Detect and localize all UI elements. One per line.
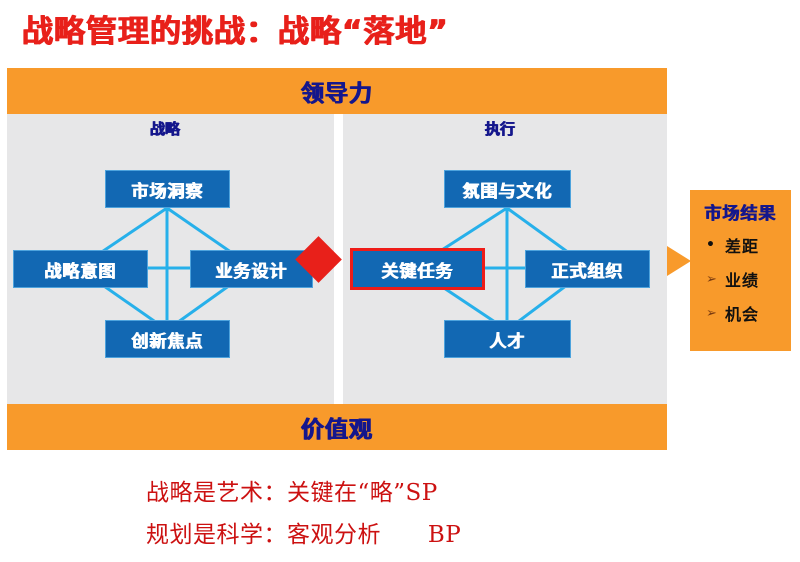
arrow-bullet-icon: ➢ — [706, 272, 725, 287]
node-business-design[interactable]: 业务设计 — [190, 250, 313, 288]
node-formal-organization[interactable]: 正式组织 — [525, 250, 650, 288]
node-talent[interactable]: 人才 — [444, 320, 571, 358]
output-arrow-icon — [667, 240, 692, 282]
node-label: 氛围与文化 — [463, 177, 553, 202]
result-item-label: 差距 — [725, 233, 759, 257]
node-market-insight[interactable]: 市场洞察 — [105, 170, 230, 208]
result-item: • 差距 — [690, 233, 791, 257]
node-key-tasks[interactable]: 关键任务 — [350, 248, 485, 290]
dot-bullet-icon: • — [706, 237, 725, 253]
slide-root: 战略管理的挑战：战略“落地” 领导力 价值观 战略 执行 — [0, 0, 800, 562]
node-label: 正式组织 — [552, 257, 624, 282]
node-label: 创新焦点 — [132, 327, 204, 352]
arrow-bullet-icon: ➢ — [706, 306, 725, 321]
market-result-title: 市场结果 — [690, 199, 791, 224]
node-label: 人才 — [490, 327, 526, 352]
result-item: ➢ 机会 — [690, 301, 791, 325]
node-label: 业务设计 — [216, 257, 288, 282]
node-strategic-intent[interactable]: 战略意图 — [13, 250, 148, 288]
result-item-label: 业绩 — [725, 267, 759, 291]
node-innovation-focus[interactable]: 创新焦点 — [105, 320, 230, 358]
node-climate-culture[interactable]: 氛围与文化 — [444, 170, 571, 208]
result-item: ➢ 业绩 — [690, 267, 791, 291]
node-label: 战略意图 — [45, 257, 117, 282]
page-title: 战略管理的挑战：战略“落地” — [22, 6, 449, 51]
node-label: 关键任务 — [382, 257, 454, 282]
market-result-box: 市场结果 • 差距 ➢ 业绩 ➢ 机会 — [690, 190, 791, 351]
result-item-label: 机会 — [725, 301, 759, 325]
footer-line-sp: 战略是艺术：关键在“略”SP — [146, 473, 438, 507]
footer-line-bp: 规划是科学：客观分析 BP — [146, 515, 461, 549]
node-label: 市场洞察 — [132, 177, 204, 202]
